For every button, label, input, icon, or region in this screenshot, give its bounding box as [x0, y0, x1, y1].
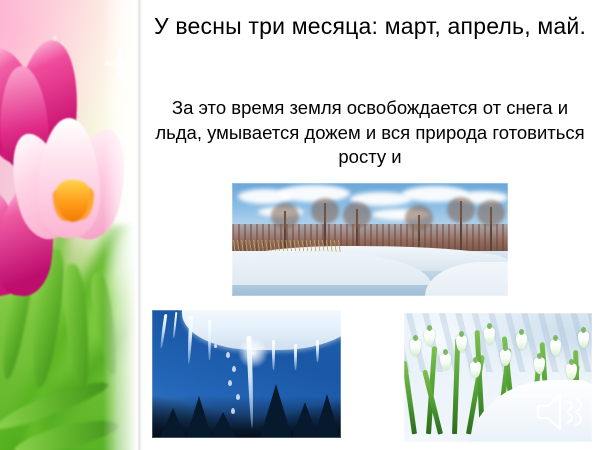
spring-thaw-landscape-photo[interactable] [232, 183, 508, 296]
presentation-slide: У весны три месяца: март, апрель, май. З… [0, 0, 600, 450]
slide-title: У весны три месяца: март, апрель, май. [150, 12, 590, 41]
sun-glare [238, 338, 268, 368]
icicles-photo[interactable] [152, 310, 341, 438]
icicle [272, 340, 275, 370]
conifer-tree [260, 384, 292, 438]
icicle [316, 340, 319, 362]
water-drop [231, 408, 235, 414]
water-drop [214, 344, 217, 348]
band-edge-divider [137, 0, 143, 450]
sound-icon[interactable] [534, 388, 586, 436]
water-drop [236, 394, 240, 400]
cloud [278, 185, 350, 202]
conifer-tree [210, 412, 236, 438]
conifer-tree [186, 396, 212, 438]
conifer-tree [160, 408, 186, 438]
left-decorative-band [0, 0, 143, 450]
icicle [294, 344, 297, 370]
icicle [208, 320, 211, 360]
conifer-tree [314, 394, 340, 438]
tulip-background-image [0, 0, 137, 450]
water-drop [232, 366, 236, 372]
water-drop [226, 352, 230, 358]
slide-body-text: За это время земля освобождается от снег… [150, 96, 590, 170]
speaker-icon[interactable] [534, 388, 586, 436]
band-fade-overlay [103, 0, 137, 450]
bare-tree [490, 207, 492, 253]
water-drop [228, 380, 232, 386]
bare-tree [460, 201, 462, 253]
snowdrops-photo[interactable] [404, 313, 592, 442]
